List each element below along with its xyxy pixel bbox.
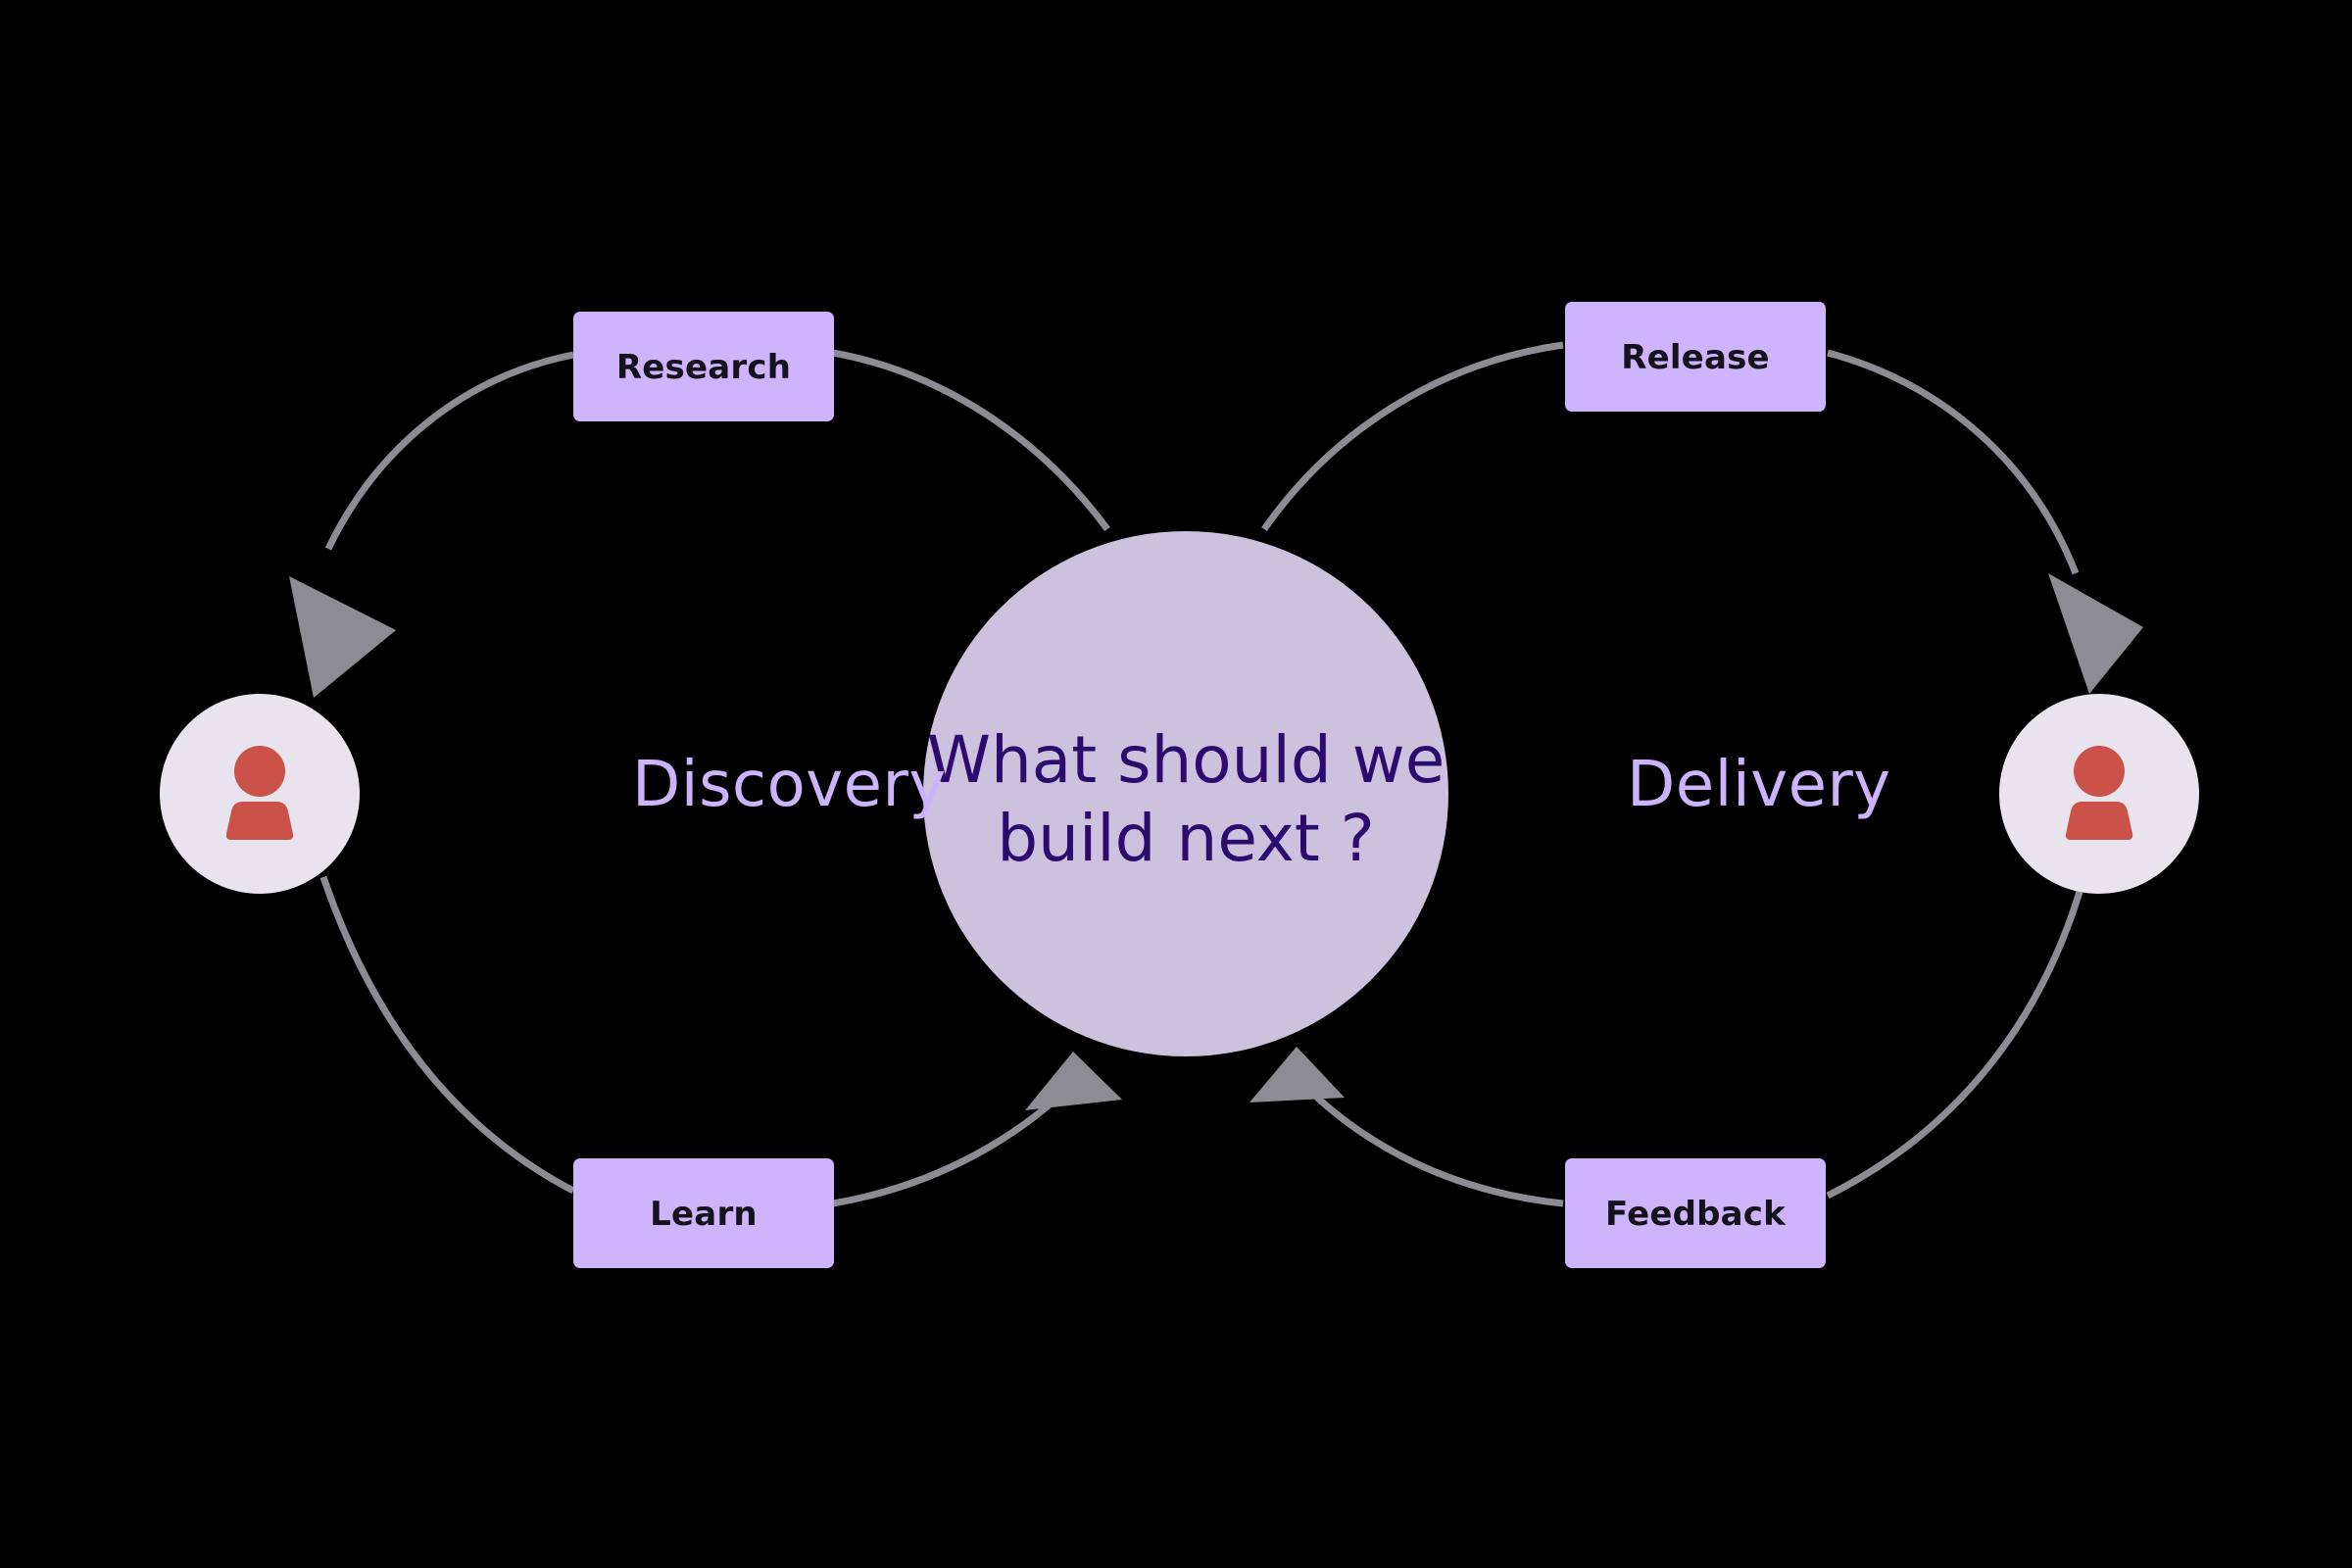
hub-question-line-1: What should we <box>927 722 1445 798</box>
diagram-canvas: What should we build next ? Discovery De… <box>0 0 2352 1568</box>
connector-hub-to-research <box>833 353 1107 529</box>
hub-question-line-2: build next ? <box>997 801 1375 876</box>
arrowhead-into-delivery-persona <box>2048 573 2143 694</box>
discovery-persona[interactable] <box>160 694 360 894</box>
arrowhead-into-hub-from-feedback <box>1249 1047 1345 1102</box>
stage-release-label: Release <box>1621 338 1770 377</box>
arrowhead-into-hub-from-learn <box>1025 1052 1122 1110</box>
connector-release-to-persona <box>1828 353 2076 573</box>
connector-hub-to-release <box>1264 345 1563 529</box>
central-hub: What should we build next ? <box>923 531 1448 1056</box>
loop-diagram: What should we build next ? Discovery De… <box>0 0 2352 1568</box>
delivery-track-title: Delivery <box>1627 749 1891 821</box>
delivery-persona[interactable] <box>1999 694 2199 894</box>
connector-persona-to-feedback <box>1828 882 2082 1196</box>
stage-feedback[interactable]: Feedback <box>1565 1158 1826 1268</box>
stage-learn-label: Learn <box>650 1195 758 1234</box>
arrowhead-into-discovery-persona <box>289 576 396 698</box>
stage-research-label: Research <box>616 348 791 387</box>
stage-learn[interactable]: Learn <box>573 1158 834 1268</box>
connector-research-to-persona <box>328 355 573 549</box>
stage-research[interactable]: Research <box>573 312 834 421</box>
connector-persona-to-learn <box>323 877 573 1191</box>
stage-release[interactable]: Release <box>1565 302 1826 412</box>
discovery-track-title: Discovery <box>632 749 947 821</box>
stage-feedback-label: Feedback <box>1605 1195 1787 1234</box>
